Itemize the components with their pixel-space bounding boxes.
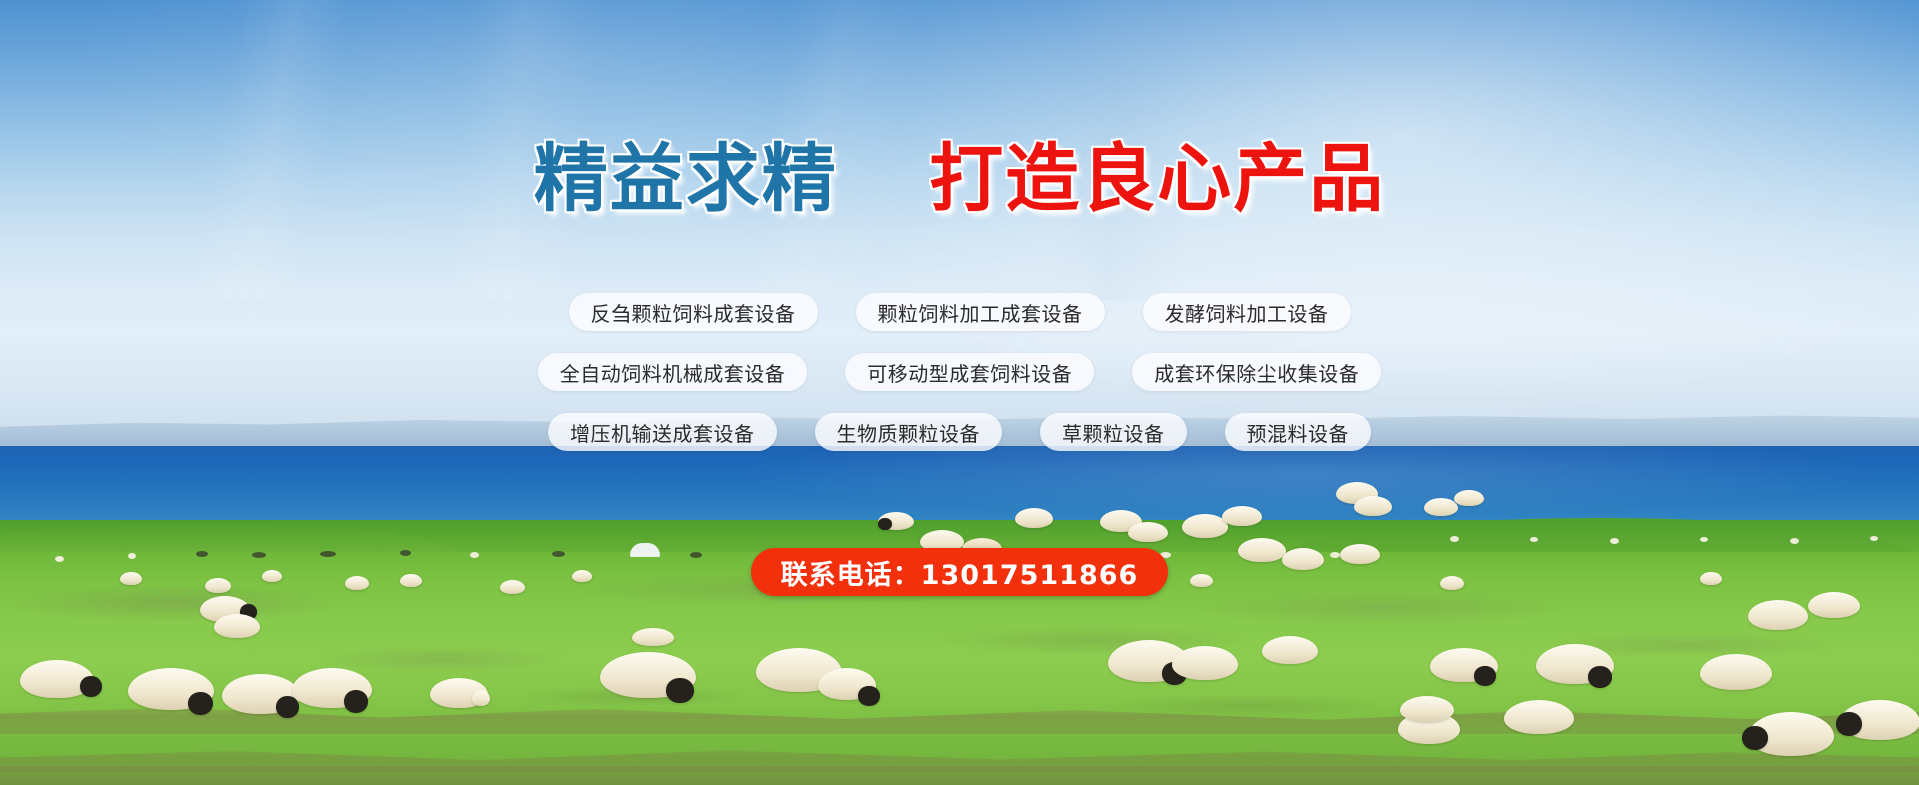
product-pill-ruminant-pellet-feed-complete-equipment[interactable]: 反刍颗粒饲料成套设备 xyxy=(569,293,818,331)
product-pill-pellet-feed-processing-complete-equipment[interactable]: 颗粒饲料加工成套设备 xyxy=(856,293,1105,331)
product-pill-booster-conveying-complete-equipment[interactable]: 增压机输送成套设备 xyxy=(548,413,777,451)
product-pill-movable-complete-feed-equipment[interactable]: 可移动型成套饲料设备 xyxy=(845,353,1094,391)
product-pill-premix-equipment[interactable]: 预混料设备 xyxy=(1225,413,1372,451)
banner-content: 精益求精 打造良心产品 反刍颗粒饲料成套设备 颗粒饲料加工成套设备 发酵饲料加工… xyxy=(0,0,1919,785)
promo-banner: 精益求精 打造良心产品 反刍颗粒饲料成套设备 颗粒饲料加工成套设备 发酵饲料加工… xyxy=(0,0,1919,785)
headline-red-text: 打造良心产品 xyxy=(929,136,1385,222)
product-row-1: 反刍颗粒饲料成套设备 颗粒饲料加工成套设备 发酵饲料加工设备 xyxy=(0,293,1919,331)
page-title: 精益求精 打造良心产品 xyxy=(0,142,1919,216)
contact-phone-badge[interactable]: 联系电话：13017511866 xyxy=(751,548,1169,596)
product-row-2: 全自动饲料机械成套设备 可移动型成套饲料设备 成套环保除尘收集设备 xyxy=(0,353,1919,391)
product-category-list: 反刍颗粒饲料成套设备 颗粒饲料加工成套设备 发酵饲料加工设备 全自动饲料机械成套… xyxy=(0,293,1919,473)
product-pill-biomass-pellet-equipment[interactable]: 生物质颗粒设备 xyxy=(815,413,1003,451)
product-pill-fully-automatic-feed-machinery-complete-equipment[interactable]: 全自动饲料机械成套设备 xyxy=(538,353,808,391)
headline-blue-text: 精益求精 xyxy=(534,136,838,222)
product-pill-complete-environmental-dust-collection-equipment[interactable]: 成套环保除尘收集设备 xyxy=(1132,353,1381,391)
product-pill-grass-pellet-equipment[interactable]: 草颗粒设备 xyxy=(1040,413,1187,451)
contact-area: 联系电话：13017511866 xyxy=(0,548,1919,596)
product-row-3: 增压机输送成套设备 生物质颗粒设备 草颗粒设备 预混料设备 xyxy=(0,413,1919,451)
product-pill-fermented-feed-processing-equipment[interactable]: 发酵饲料加工设备 xyxy=(1143,293,1351,331)
